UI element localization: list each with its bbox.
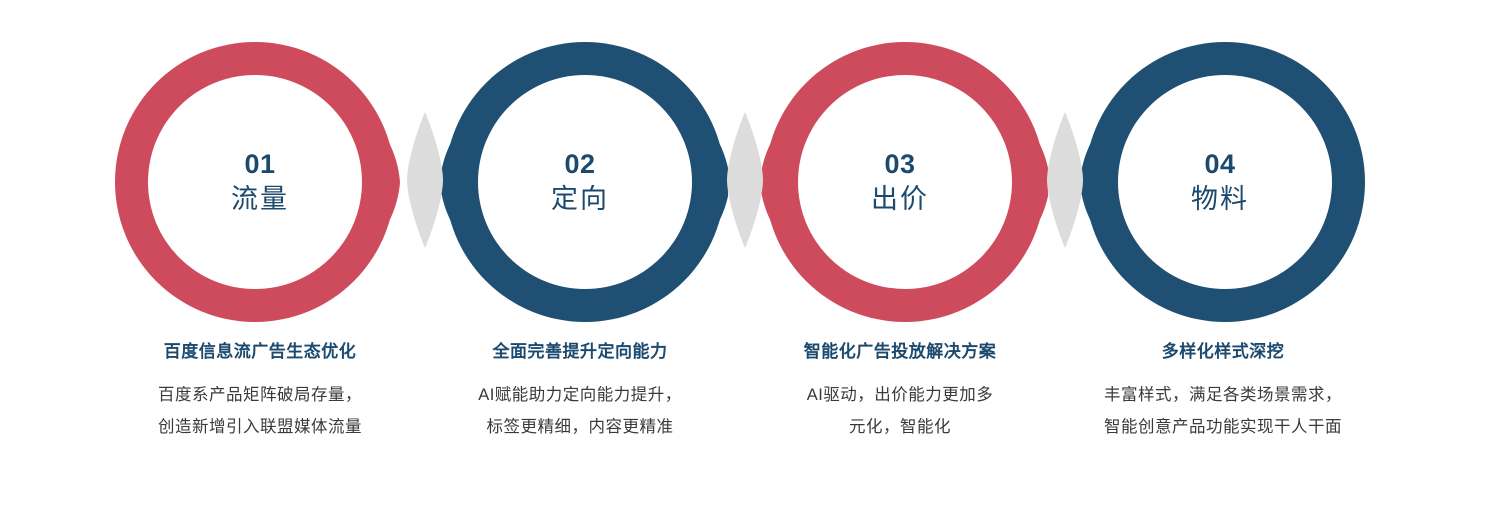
caption-desc-line: AI赋能助力定向能力提升， (415, 379, 745, 411)
caption-title-02: 全面完善提升定向能力 (415, 340, 745, 364)
caption-desc-line: 百度系产品矩阵破局存量， (95, 379, 425, 411)
caption-block-02: 全面完善提升定向能力 AI赋能助力定向能力提升， 标签更精细，内容更精准 (415, 340, 745, 443)
caption-desc-line: 创造新增引入联盟媒体流量 (95, 411, 425, 443)
caption-desc-01: 百度系产品矩阵破局存量， 创造新增引入联盟媒体流量 (95, 379, 425, 443)
caption-desc-line: 标签更精细，内容更精准 (415, 411, 745, 443)
caption-desc-03: AI驱动，出价能力更加多 元化，智能化 (735, 379, 1065, 443)
ring-shape-02 (432, 34, 728, 330)
captions-row: 百度信息流广告生态优化 百度系产品矩阵破局存量， 创造新增引入联盟媒体流量 全面… (0, 340, 1500, 506)
caption-block-03: 智能化广告投放解决方案 AI驱动，出价能力更加多 元化，智能化 (735, 340, 1065, 443)
lens-separator-icon-1 (405, 112, 445, 248)
caption-desc-line: AI驱动，出价能力更加多 (735, 379, 1065, 411)
caption-title-01: 百度信息流广告生态优化 (95, 340, 425, 364)
infographic-root: 01 流量 02 定向 (0, 0, 1500, 506)
ring-shape-03 (752, 34, 1048, 330)
step-circle-03[interactable]: 03 出价 (752, 34, 1048, 330)
caption-title-04: 多样化样式深挖 (1058, 340, 1388, 364)
caption-desc-02: AI赋能助力定向能力提升， 标签更精细，内容更精准 (415, 379, 745, 443)
ring-shape-01 (112, 34, 408, 330)
caption-desc-line: 元化，智能化 (735, 411, 1065, 443)
caption-title-03: 智能化广告投放解决方案 (735, 340, 1065, 364)
step-circle-04[interactable]: 04 物料 (1072, 34, 1368, 330)
lens-separator-icon-3 (1045, 112, 1085, 248)
step-circle-02[interactable]: 02 定向 (432, 34, 728, 330)
caption-block-04: 多样化样式深挖 丰富样式，满足各类场景需求， 智能创意产品功能实现干人干面 (1058, 340, 1388, 443)
circles-row: 01 流量 02 定向 (0, 0, 1500, 340)
step-circle-01[interactable]: 01 流量 (112, 34, 408, 330)
caption-desc-line: 智能创意产品功能实现干人干面 (1058, 411, 1388, 443)
caption-desc-04: 丰富样式，满足各类场景需求， 智能创意产品功能实现干人干面 (1058, 379, 1388, 443)
lens-separator-icon-2 (725, 112, 765, 248)
ring-shape-04 (1072, 34, 1368, 330)
caption-desc-line: 丰富样式，满足各类场景需求， (1058, 379, 1388, 411)
caption-block-01: 百度信息流广告生态优化 百度系产品矩阵破局存量， 创造新增引入联盟媒体流量 (95, 340, 425, 443)
